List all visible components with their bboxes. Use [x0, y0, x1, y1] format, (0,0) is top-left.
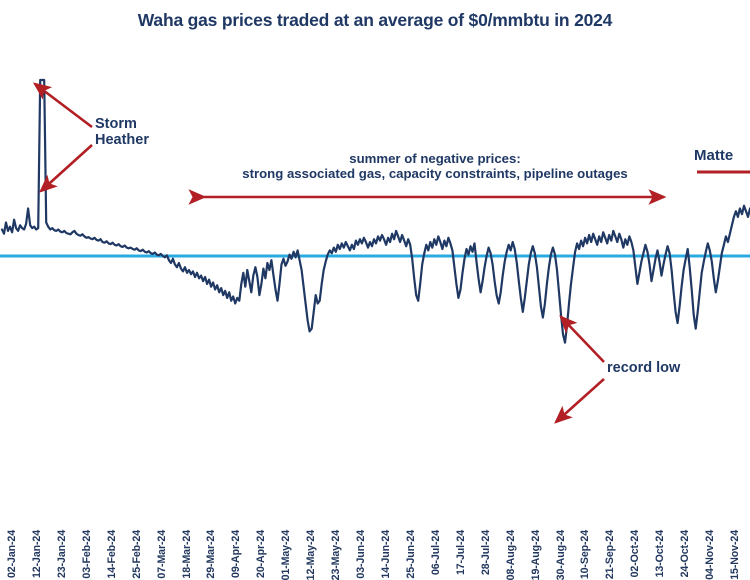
x-axis-tick-label: 13-Oct-24 [654, 530, 666, 577]
x-axis-tick-label: 07-Mar-24 [156, 530, 168, 579]
x-axis-tick-label: 04-Nov-24 [704, 530, 716, 580]
x-axis-tick-label: 25-Feb-24 [131, 530, 143, 579]
x-axis-tick-label: 23-May-24 [330, 530, 342, 580]
x-axis-tick-label: 14-Feb-24 [106, 530, 118, 579]
x-axis-tick-label: 10-Sep-24 [579, 530, 591, 579]
x-axis-tick-label: 03-Jun-24 [355, 530, 367, 579]
record-low-arrow-upper [561, 317, 604, 362]
x-axis-tick-label: 08-Aug-24 [505, 530, 517, 580]
x-axis-tick-label: 12-May-24 [305, 530, 317, 580]
x-axis-tick-label: 15-Nov-24 [729, 530, 741, 580]
x-axis-tick-label: 29-Mar-24 [205, 530, 217, 579]
x-axis-tick-label: 17-Jul-24 [455, 530, 467, 575]
annotation-storm-heather: Storm Heather [95, 116, 149, 148]
x-axis-tick-label: 19-Aug-24 [530, 530, 542, 580]
x-axis-tick-label: 21-Sep-24 [604, 530, 616, 579]
x-axis-tick-label: 25-Jun-24 [405, 530, 417, 579]
x-axis-tick-label: 03-Feb-24 [81, 530, 93, 579]
summer-line-2: strong associated gas, capacity constrai… [205, 167, 665, 182]
storm-heather-arrow-lower [41, 145, 92, 191]
x-axis-tick-label: 02-Oct-24 [629, 530, 641, 577]
record-low-arrow-lower [556, 379, 604, 422]
x-axis-tick-label: 01-May-24 [280, 530, 292, 580]
annotation-summer-negative-prices: summer of negative prices: strong associ… [205, 152, 665, 182]
x-axis-tick-label: 30-Aug-24 [555, 530, 567, 580]
x-axis-tick-label: 23-Jan-24 [56, 530, 68, 578]
x-axis-tick-label: 14-Jun-24 [380, 530, 392, 579]
storm-heather-line-1: Storm [95, 116, 137, 132]
annotation-matterhorn: Matte [694, 148, 733, 165]
x-axis-tick-label: 02-Jan-24 [6, 530, 18, 578]
storm-heather-line-2: Heather [95, 132, 149, 148]
x-axis-tick-label: 06-Jul-24 [430, 530, 442, 575]
x-axis-tick-labels: 02-Jan-2412-Jan-2423-Jan-2403-Feb-2414-F… [0, 430, 750, 536]
annotation-record-low: record low [607, 360, 680, 376]
x-axis-tick-label: 28-Jul-24 [480, 530, 492, 575]
x-axis-tick-label: 18-Mar-24 [181, 530, 193, 579]
chart-container: Waha gas prices traded at an average of … [0, 0, 750, 536]
summer-line-1: summer of negative prices: [205, 152, 665, 167]
x-axis-tick-label: 20-Apr-24 [255, 530, 267, 578]
x-axis-tick-label: 12-Jan-24 [31, 530, 43, 578]
x-axis-tick-label: 09-Apr-24 [230, 530, 242, 578]
x-axis-tick-label: 24-Oct-24 [679, 530, 691, 577]
